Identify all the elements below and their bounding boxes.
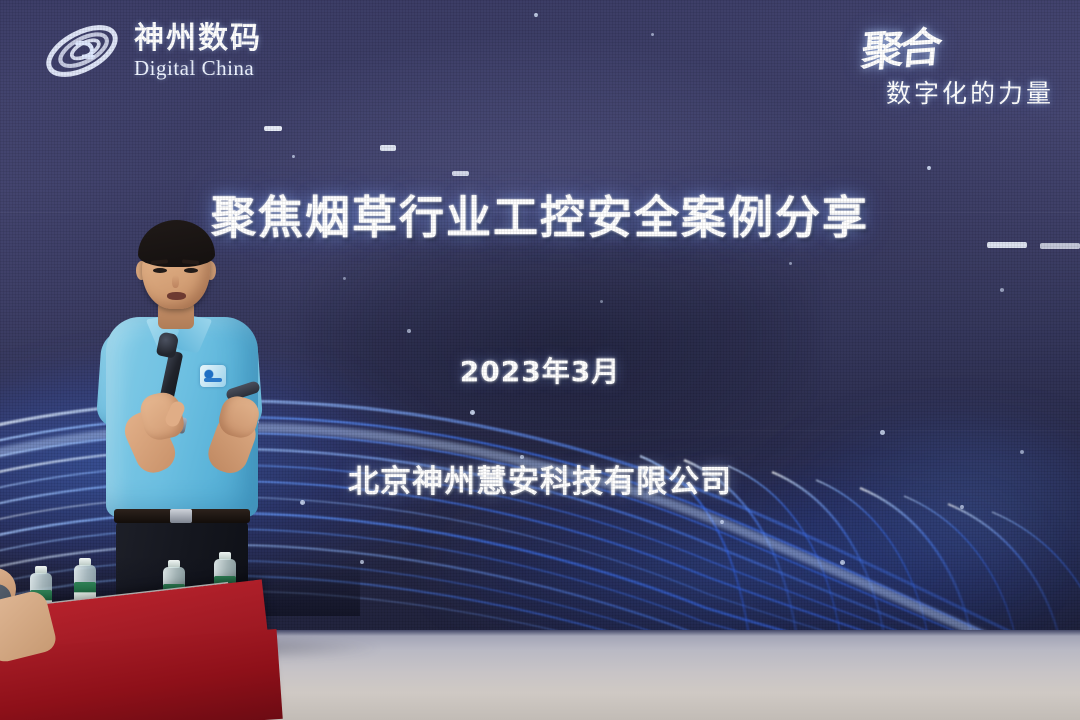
digital-china-brand-logo: 神州数码 Digital China (40, 18, 262, 84)
brand-name-en: Digital China (134, 58, 262, 79)
digital-china-spiral-icon (40, 18, 124, 84)
belt-buckle (170, 509, 192, 523)
light-speck (927, 166, 931, 170)
event-subtitle: 数字化的力量 (886, 74, 1054, 110)
presenter-mouth (167, 292, 186, 300)
brand-wordmark: 神州数码 Digital China (134, 24, 262, 79)
light-speck (534, 13, 538, 17)
light-speck (264, 126, 282, 131)
presenter-nose (172, 275, 179, 288)
light-speck (1000, 288, 1004, 292)
event-brush-text: 聚合 (859, 13, 941, 79)
conference-photo-scene: 神州数码 Digital China 聚合 数字化的力量 聚焦烟草行业工控安全案… (0, 0, 1080, 720)
light-speck (651, 33, 654, 36)
chest-badge-icon (200, 365, 226, 387)
presenter-eye (153, 268, 167, 273)
light-speck (292, 155, 295, 158)
presenter-hair (138, 220, 215, 267)
event-logo: 聚合 数字化的力量 (808, 14, 1058, 114)
light-speck (380, 145, 396, 151)
presenter-eye (184, 268, 198, 273)
brand-name-cn: 神州数码 (134, 24, 262, 54)
light-speck (452, 171, 469, 176)
